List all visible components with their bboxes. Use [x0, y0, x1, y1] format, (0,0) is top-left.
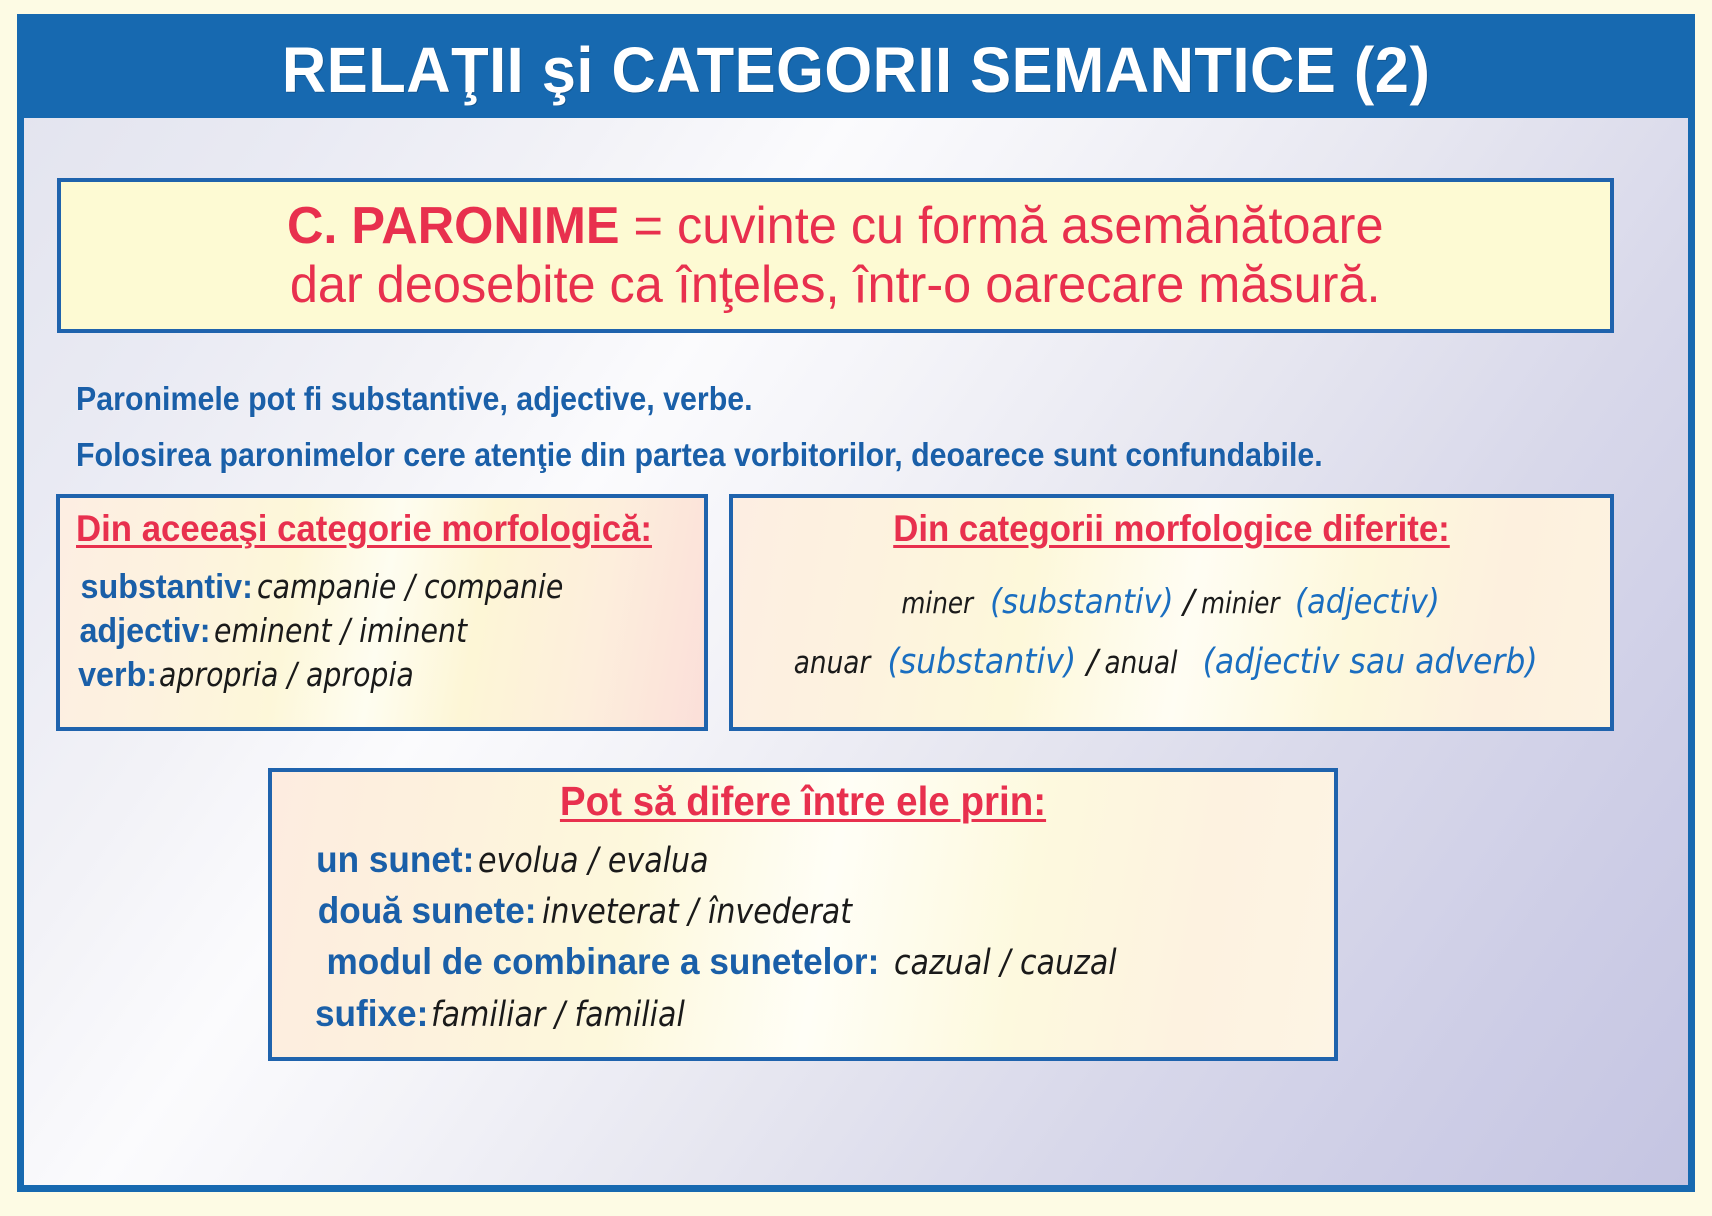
example-value: evolua / evalua — [478, 842, 709, 881]
pair-word-2: anual — [1104, 646, 1177, 680]
differences-list: un sunet: evolua / evalua două sunete: i… — [288, 839, 1318, 1035]
same-category-list: substantiv: campanie / companie adjectiv… — [76, 568, 688, 694]
pair-separator: / — [1087, 644, 1098, 680]
list-item: adjectiv: eminent / iminent — [76, 612, 688, 650]
list-item: miner(substantiv) / minier(adjectiv) — [749, 584, 1594, 621]
title-banner: RELAŢII şi CATEGORII SEMANTICE (2) — [24, 21, 1688, 118]
example-value: apropria / apropia — [159, 657, 414, 694]
example-label: modul de combinare a sunetelor: — [327, 941, 880, 982]
different-categories-box: Din categorii morfologice diferite: mine… — [729, 494, 1614, 731]
list-item: două sunete: inveterat / învederat — [312, 890, 1318, 932]
definition-line-2: dar deosebite ca înţeles, într-o oarecar… — [290, 256, 1381, 314]
list-item: modul de combinare a sunetelor: cazual /… — [312, 941, 1318, 983]
example-value: inveterat / învederat — [542, 893, 852, 932]
different-categories-heading: Din categorii morfologice diferite: — [774, 508, 1568, 550]
example-label: două sunete: — [318, 890, 537, 931]
definition-line-1-rest: = cuvinte cu formă asemănătoare — [620, 197, 1384, 255]
slide-body: C. PARONIME = cuvinte cu formă asemănăto… — [24, 118, 1688, 1185]
list-item: anuar(substantiv) / anual(adjectiv sau a… — [749, 643, 1594, 682]
example-label: verb: — [78, 656, 157, 694]
example-label: un sunet: — [316, 839, 474, 880]
differences-heading: Pot să difere între ele prin: — [319, 778, 1287, 825]
example-label: sufixe: — [315, 993, 428, 1034]
note-line-1: Paronimele pot fi substantive, adjective… — [76, 380, 753, 418]
example-value: familiar / familial — [431, 996, 685, 1035]
list-item: sufixe: familiar / familial — [312, 993, 1318, 1035]
example-value: cazual / cauzal — [894, 944, 1117, 983]
definition-term: C. PARONIME — [287, 197, 620, 255]
pair-word-1: anuar — [794, 646, 871, 680]
differences-box: Pot să difere între ele prin: un sunet: … — [268, 768, 1338, 1061]
list-item: un sunet: evolua / evalua — [312, 839, 1318, 881]
example-value: eminent / iminent — [214, 613, 467, 650]
note-line-2: Folosirea paronimelor cere atenţie din p… — [76, 436, 1323, 474]
same-category-heading: Din aceeaşi categorie morfologică: — [76, 508, 651, 550]
page-title: RELAŢII şi CATEGORII SEMANTICE (2) — [282, 38, 1430, 102]
same-category-box: Din aceeaşi categorie morfologică: subst… — [56, 494, 708, 731]
pair-category-1: (substantiv) — [990, 584, 1173, 621]
example-value: campanie / companie — [257, 569, 563, 606]
pair-separator: / — [1183, 584, 1194, 620]
definition-line-1: C. PARONIME = cuvinte cu formă asemănăto… — [287, 197, 1384, 255]
pair-word-1: miner — [901, 588, 973, 620]
list-item: verb: apropria / apropia — [76, 656, 688, 694]
slide-frame: RELAŢII şi CATEGORII SEMANTICE (2) C. PA… — [17, 14, 1695, 1192]
slide-page: RELAŢII şi CATEGORII SEMANTICE (2) C. PA… — [0, 0, 1712, 1216]
example-label: substantiv: — [81, 568, 253, 606]
example-label: adjectiv: — [79, 612, 210, 650]
pair-word-2: minier — [1201, 588, 1280, 620]
pair-category-1: (substantiv) — [888, 643, 1077, 682]
definition-box: C. PARONIME = cuvinte cu formă asemănăto… — [57, 178, 1614, 333]
list-item: substantiv: campanie / companie — [76, 568, 688, 606]
pair-category-2: (adjectiv) — [1295, 584, 1440, 621]
pair-category-2: (adjectiv sau adverb) — [1202, 643, 1537, 682]
